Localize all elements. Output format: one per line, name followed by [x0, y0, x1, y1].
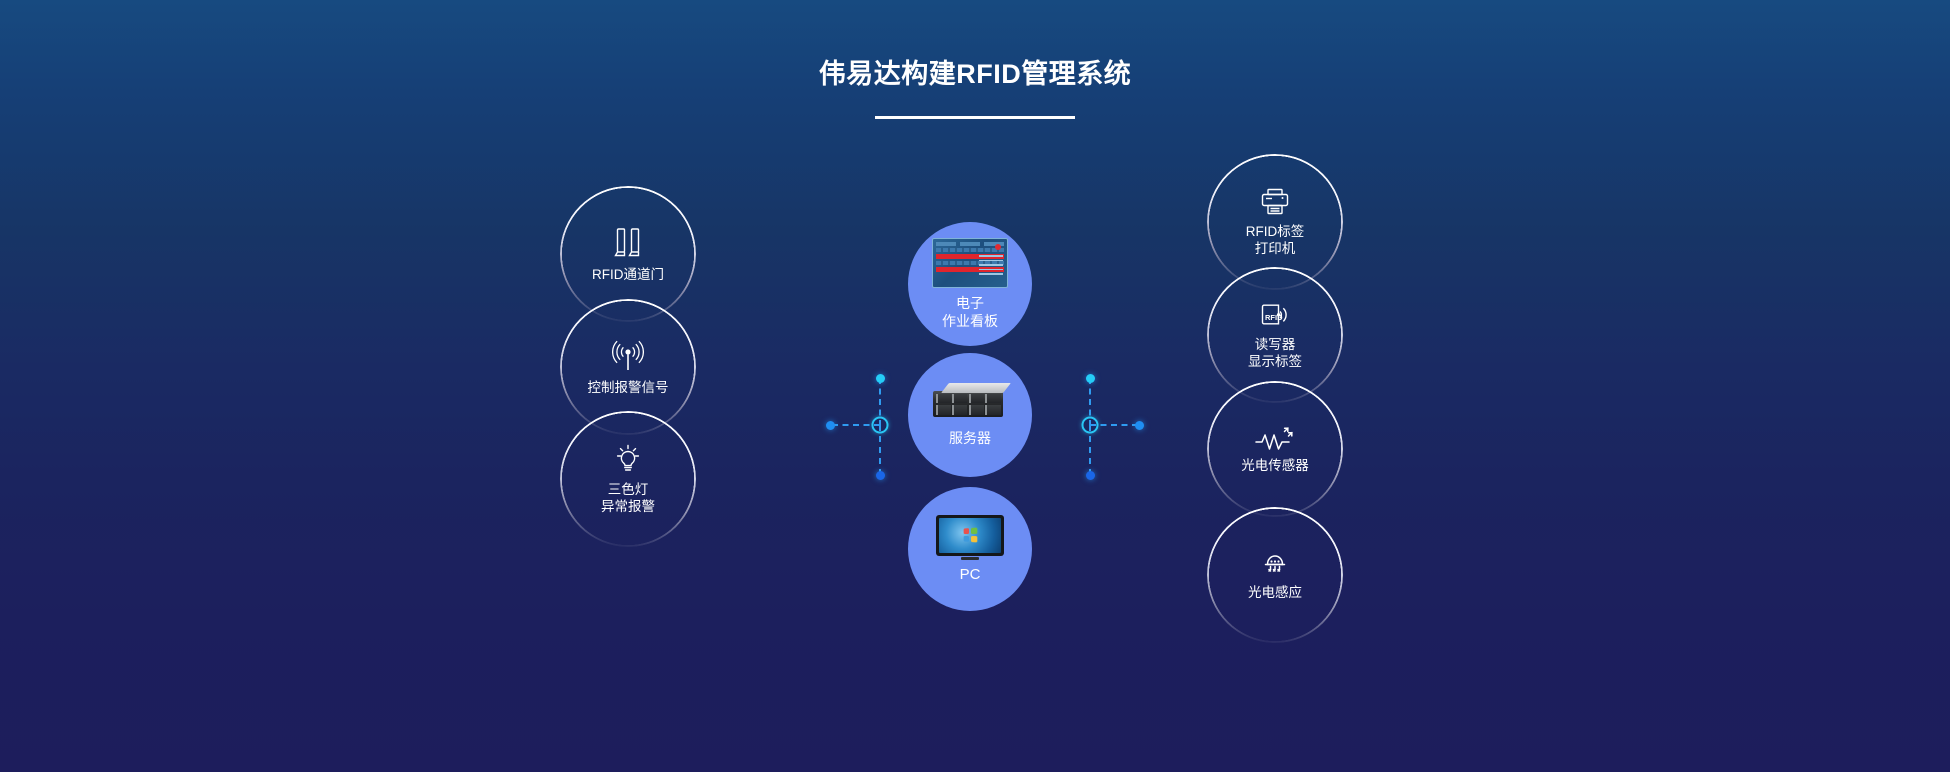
connector-endpoint-right [1135, 421, 1144, 430]
node-label: 光电感应 [1248, 584, 1302, 601]
signal-tower-icon [612, 339, 644, 373]
rfid-gate-icon [613, 226, 643, 260]
rfid-tag-reader-icon: RFID [1259, 300, 1292, 330]
connector-endpoint-down [1086, 471, 1095, 480]
kanban-screen-icon [932, 238, 1008, 288]
node-tricolor-lamp[interactable]: 三色灯 异常报警 [560, 411, 696, 547]
node-photoelectric-induction[interactable]: 光电感应 [1207, 507, 1343, 643]
title-underline [875, 116, 1075, 119]
node-electronic-kanban[interactable]: 电子 作业看板 [908, 222, 1032, 346]
rack-server-icon [933, 383, 1007, 423]
title-block: 伟易达构建RFID管理系统 [0, 56, 1950, 119]
node-label: 光电传感器 [1241, 457, 1309, 474]
light-bulb-icon [612, 443, 644, 475]
page-title: 伟易达构建RFID管理系统 [0, 56, 1950, 92]
node-pc[interactable]: PC [908, 487, 1032, 611]
node-label: 读写器 显示标签 [1248, 336, 1302, 370]
node-label: 服务器 [949, 429, 991, 447]
photo-sensor-wave-icon [1254, 425, 1296, 451]
connector-right-hub [1030, 370, 1150, 480]
node-label: 控制报警信号 [588, 379, 669, 396]
pc-monitor-icon [936, 515, 1004, 560]
node-label: RFID通道门 [592, 266, 664, 283]
node-label: RFID标签 打印机 [1246, 223, 1305, 257]
node-label: 三色灯 异常报警 [601, 481, 655, 515]
connector-hub-ring [1082, 417, 1099, 434]
connector-endpoint-up [876, 374, 885, 383]
node-photoelectric-sensor[interactable]: 光电传感器 [1207, 381, 1343, 517]
connector-left-hub [820, 370, 940, 480]
node-label: 电子 作业看板 [942, 294, 998, 330]
connector-endpoint-down [876, 471, 885, 480]
printer-icon [1259, 187, 1291, 217]
connector-endpoint-left [826, 421, 835, 430]
connector-endpoint-up [1086, 374, 1095, 383]
windows-logo-icon [964, 527, 978, 542]
node-label: PC [960, 566, 981, 584]
photo-sensor-dome-icon [1259, 550, 1291, 578]
connector-hub-ring [872, 417, 889, 434]
diagram-canvas: 伟易达构建RFID管理系统 RFID通道门 [0, 0, 1950, 772]
